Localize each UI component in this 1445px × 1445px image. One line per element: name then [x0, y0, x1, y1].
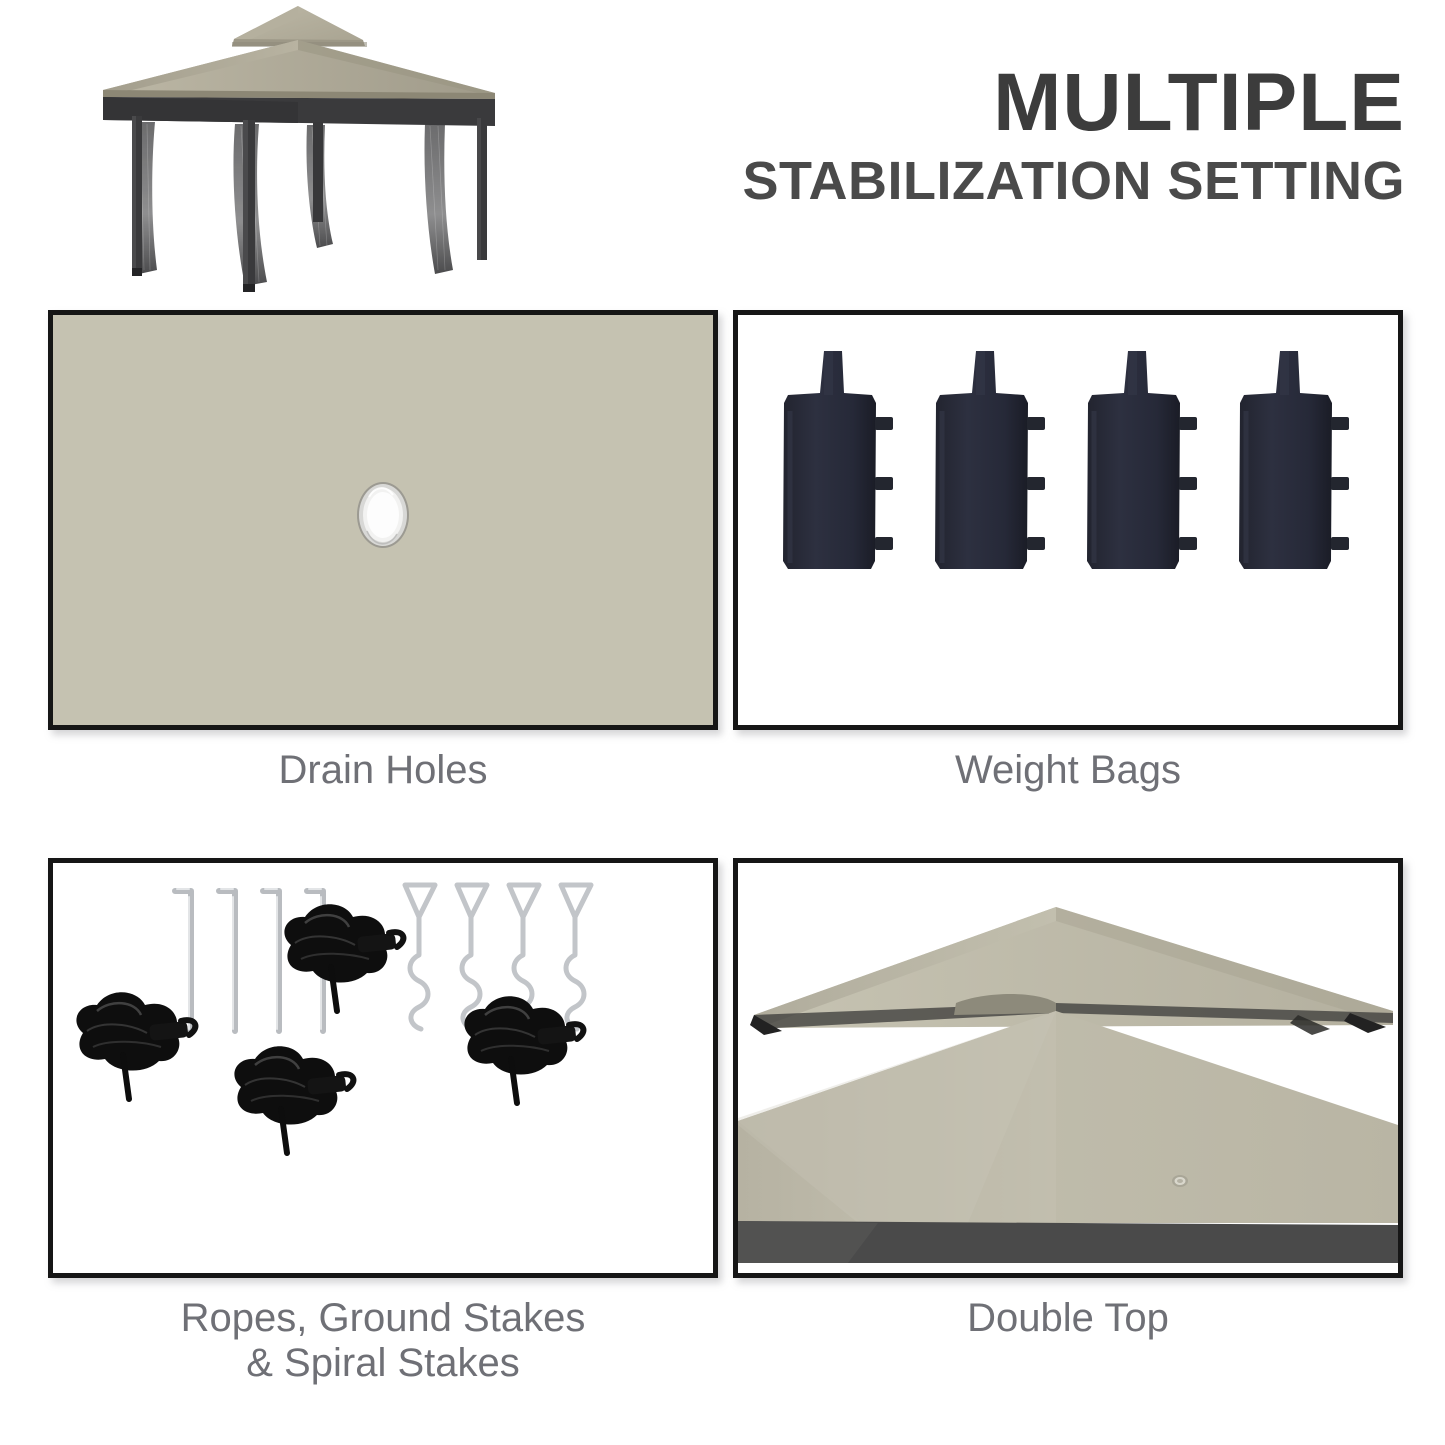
- weight-bag-icon: [738, 315, 1398, 725]
- panel-weight-bags: [733, 310, 1403, 730]
- caption-line: Ropes, Ground Stakes: [48, 1296, 718, 1341]
- caption-line: Double Top: [733, 1296, 1403, 1341]
- caption-ropes-stakes: Ropes, Ground Stakes & Spiral Stakes: [48, 1296, 718, 1386]
- caption-line: Drain Holes: [48, 748, 718, 793]
- caption-double-top: Double Top: [733, 1296, 1403, 1341]
- panel-ropes-stakes: [48, 858, 718, 1278]
- title-line-1: MULTIPLE: [743, 62, 1405, 144]
- panel-double-top: [733, 858, 1403, 1278]
- header: MULTIPLE STABILIZATION SETTING: [0, 0, 1445, 300]
- page-title: MULTIPLE STABILIZATION SETTING: [743, 62, 1405, 208]
- gazebo-canopy-illustration: [95, 0, 515, 298]
- panel-drain-holes: [48, 310, 718, 730]
- double-tier-canopy-roof-icon: [738, 863, 1398, 1273]
- caption-line: Weight Bags: [733, 748, 1403, 793]
- canopy-drain-grommet-icon: [53, 315, 713, 725]
- caption-line: & Spiral Stakes: [48, 1341, 718, 1386]
- title-line-2: STABILIZATION SETTING: [743, 154, 1405, 208]
- caption-weight-bags: Weight Bags: [733, 748, 1403, 793]
- caption-drain-holes: Drain Holes: [48, 748, 718, 793]
- stakes-and-ropes-icon: [53, 863, 713, 1273]
